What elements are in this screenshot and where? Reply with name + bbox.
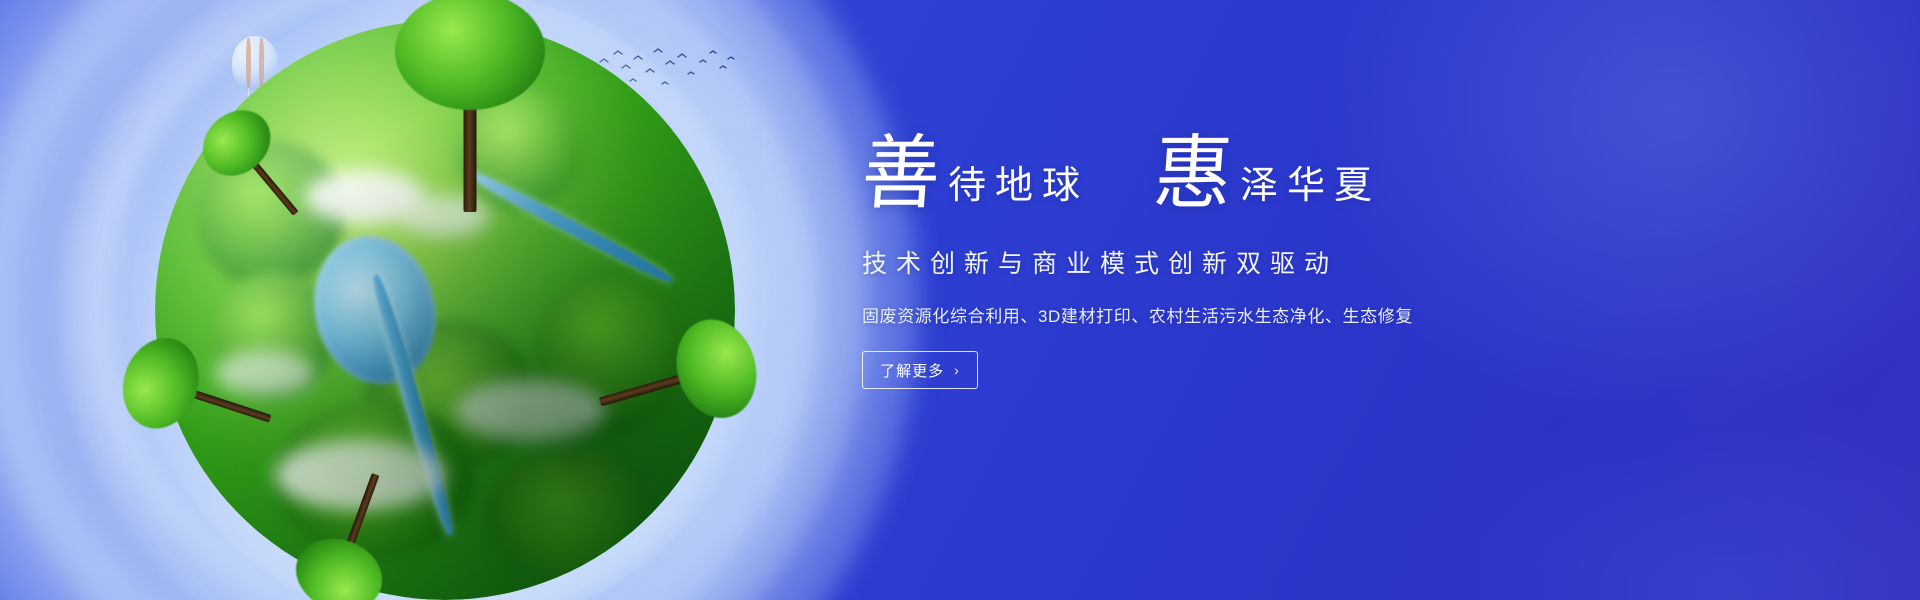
chevron-right-icon: ›: [954, 362, 960, 378]
tree-crown: [111, 328, 210, 438]
tiny-planet-artwork: [155, 20, 735, 600]
headline-small-1: 待地球: [948, 162, 1089, 218]
headline-big-2: 惠: [1151, 128, 1237, 220]
headline-group-1: 善待地球: [862, 130, 1089, 218]
learn-more-button[interactable]: 了解更多 ›: [862, 351, 978, 389]
hero-subtitle: 技术创新与商业模式创新双驱动: [862, 244, 1862, 280]
tree-crown: [395, 0, 545, 110]
headline-small-2: 泽华夏: [1240, 162, 1381, 218]
headline-group-2: 惠泽华夏: [1154, 130, 1381, 218]
hero-headline: 善待地球 惠泽华夏: [862, 130, 1862, 226]
hero-description: 固废资源化综合利用、3D建材打印、农村生活污水生态净化、生态修复: [862, 302, 1862, 327]
tree: [390, 0, 550, 208]
tree-crown: [665, 310, 768, 428]
headline-big-1: 善: [859, 128, 945, 220]
hero-copy: 善待地球 惠泽华夏 技术创新与商业模式创新双驱动 固废资源化综合利用、3D建材打…: [862, 130, 1862, 389]
hero-banner: 善待地球 惠泽华夏 技术创新与商业模式创新双驱动 固废资源化综合利用、3D建材打…: [0, 0, 1920, 600]
learn-more-label: 了解更多: [880, 360, 944, 381]
